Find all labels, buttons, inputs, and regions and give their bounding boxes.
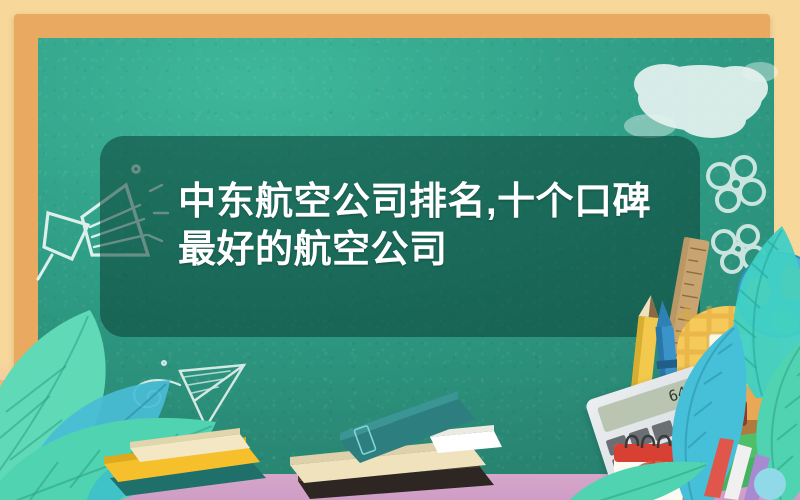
- cover-image: 中东航空公司排名,十个口碑最好的航空公司: [0, 0, 800, 500]
- page-title: 中东航空公司排名,十个口碑最好的航空公司: [178, 178, 678, 274]
- leaf-mint-bottom-center: [560, 455, 710, 500]
- book-stack-left: [100, 420, 290, 500]
- book-stack-center: [280, 385, 510, 500]
- decorative-shapes: [700, 410, 800, 500]
